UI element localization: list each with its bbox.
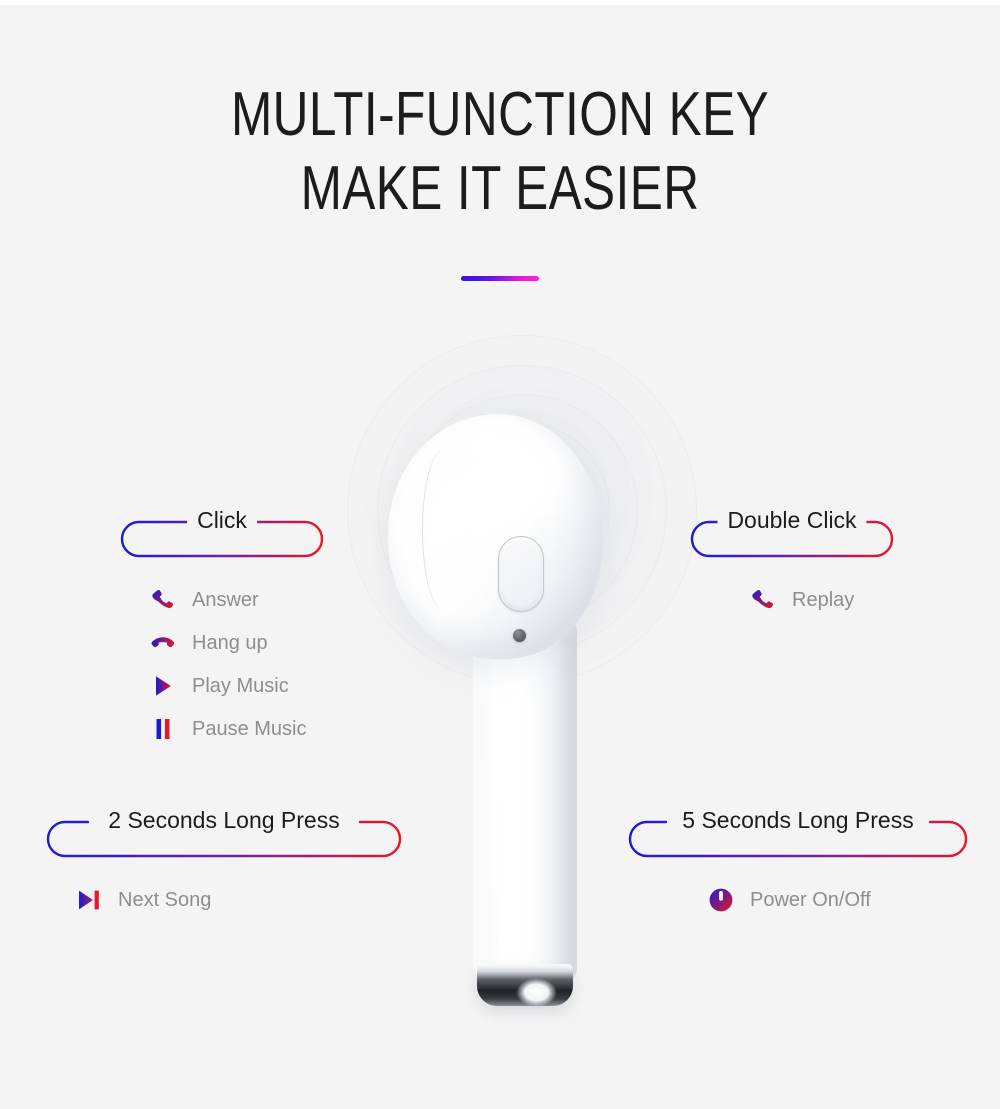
phone-hangup-icon xyxy=(148,633,178,653)
badge-two-seconds-long-press: 2 Seconds Long Press xyxy=(46,820,402,858)
title-line-1: MULTI-FUNCTION KEY xyxy=(100,78,900,152)
list-item: Pause Music xyxy=(148,707,324,750)
list-item-label: Replay xyxy=(792,588,854,612)
list-item-label: Hang up xyxy=(192,631,268,655)
gradient-divider xyxy=(461,276,539,281)
led-indicator xyxy=(513,629,526,642)
list-item: Play Music xyxy=(148,664,324,707)
callout-five-seconds-long-press: 5 Seconds Long Press Power On/Off xyxy=(628,820,968,921)
feature-list: Power On/Off xyxy=(628,878,968,921)
list-item-label: Answer xyxy=(192,588,259,612)
feature-list: Replay xyxy=(690,578,894,621)
charging-contact-base xyxy=(477,966,573,1006)
list-item: Answer xyxy=(148,578,324,621)
list-item: Next Song xyxy=(74,878,402,921)
badge-label: 2 Seconds Long Press xyxy=(98,806,349,834)
callout-click: Click Answer xyxy=(120,520,324,750)
list-item: Power On/Off xyxy=(706,878,968,921)
list-item-label: Next Song xyxy=(118,888,211,912)
multi-function-button[interactable] xyxy=(498,536,544,612)
stem-highlight xyxy=(490,626,512,956)
pause-icon xyxy=(148,717,178,741)
list-item-label: Power On/Off xyxy=(750,888,871,912)
phone-answer-icon xyxy=(748,588,778,612)
next-track-icon xyxy=(74,888,104,912)
list-item-label: Play Music xyxy=(192,674,289,698)
top-edge-strip xyxy=(0,0,1000,5)
feature-list: Answer Hang up xyxy=(120,578,324,750)
power-icon xyxy=(706,887,736,913)
list-item: Hang up xyxy=(148,621,324,664)
play-icon xyxy=(148,674,178,698)
page-title: MULTI-FUNCTION KEY MAKE IT EASIER xyxy=(0,78,1000,226)
earbud-stem xyxy=(473,620,577,984)
feature-list: Next Song xyxy=(46,878,402,921)
list-item: Replay xyxy=(748,578,894,621)
infographic-canvas: MULTI-FUNCTION KEY MAKE IT EASIER xyxy=(0,0,1000,1109)
badge-label: Double Click xyxy=(717,506,866,534)
badge-click: Click xyxy=(120,520,324,558)
badge-five-seconds-long-press: 5 Seconds Long Press xyxy=(628,820,968,858)
title-line-2: MAKE IT EASIER xyxy=(100,152,900,226)
badge-label: 5 Seconds Long Press xyxy=(672,806,923,834)
callout-two-seconds-long-press: 2 Seconds Long Press Next Song xyxy=(46,820,402,921)
badge-double-click: Double Click xyxy=(690,520,894,558)
list-item-label: Pause Music xyxy=(192,717,307,741)
earbud-highlight xyxy=(426,438,558,634)
divider-container xyxy=(0,276,1000,281)
badge-label: Click xyxy=(187,506,257,534)
callout-double-click: Double Click Replay xyxy=(690,520,894,621)
phone-answer-icon xyxy=(148,588,178,612)
